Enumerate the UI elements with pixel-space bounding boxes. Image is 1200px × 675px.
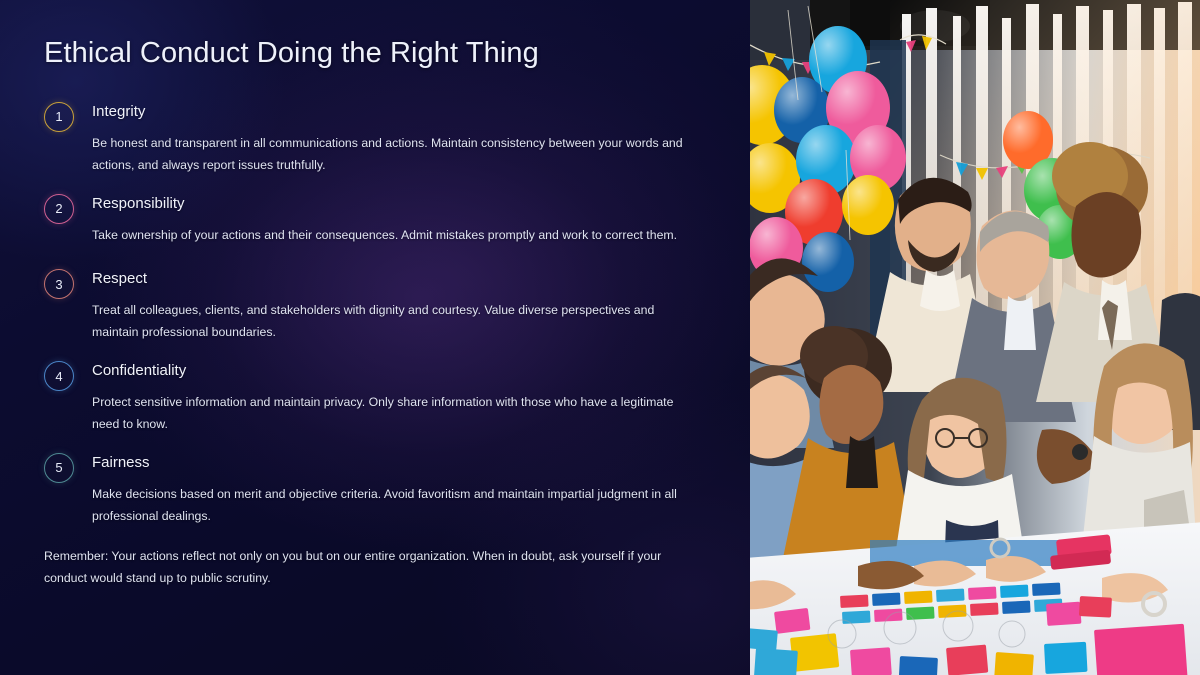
item-description: Treat all colleagues, clients, and stake…	[92, 300, 704, 344]
item-title: Integrity	[92, 101, 706, 122]
number-badge-3: 3	[44, 269, 74, 299]
number-badge-4: 4	[44, 361, 74, 391]
item-title: Fairness	[92, 452, 706, 473]
footnote-text: Remember: Your actions reflect not only …	[44, 546, 694, 590]
item-description: Make decisions based on merit and object…	[92, 484, 704, 528]
page-title: Ethical Conduct Doing the Right Thing	[44, 36, 706, 71]
list-item: 2 Responsibility Take ownership of your …	[44, 193, 706, 247]
list-item: 1 Integrity Be honest and transparent in…	[44, 101, 706, 177]
list-item: 3 Respect Treat all colleagues, clients,…	[44, 268, 706, 344]
list-item: 4 Confidentiality Protect sensitive info…	[44, 360, 706, 436]
badge-number: 4	[55, 369, 62, 384]
number-badge-2: 2	[44, 194, 74, 224]
item-description: Protect sensitive information and mainta…	[92, 392, 704, 436]
number-badge-1: 1	[44, 102, 74, 132]
list-item: 5 Fairness Make decisions based on merit…	[44, 452, 706, 528]
team-photo	[750, 0, 1200, 675]
content-panel: Ethical Conduct Doing the Right Thing 1 …	[0, 0, 750, 675]
badge-number: 5	[55, 460, 62, 475]
item-title: Confidentiality	[92, 360, 706, 381]
team-photo-illustration	[750, 0, 1200, 675]
item-title: Respect	[92, 268, 706, 289]
badge-number: 3	[55, 277, 62, 292]
item-description: Take ownership of your actions and their…	[92, 225, 704, 247]
badge-number: 2	[55, 201, 62, 216]
content-wrapper: Ethical Conduct Doing the Right Thing 1 …	[0, 0, 750, 589]
badge-number: 1	[55, 109, 62, 124]
number-badge-5: 5	[44, 453, 74, 483]
item-title: Responsibility	[92, 193, 706, 214]
principles-list: 1 Integrity Be honest and transparent in…	[44, 101, 706, 542]
slide: Ethical Conduct Doing the Right Thing 1 …	[0, 0, 1200, 675]
item-description: Be honest and transparent in all communi…	[92, 133, 704, 177]
